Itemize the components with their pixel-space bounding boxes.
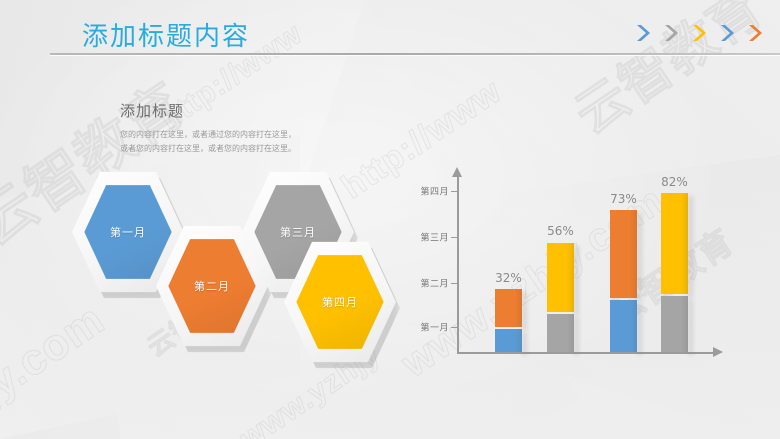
bar-segment-top bbox=[547, 243, 574, 312]
y-axis-tick bbox=[451, 327, 458, 328]
stacked-bar-chart: 第四月第三月第二月第一月 32%56%73%82% bbox=[395, 165, 735, 370]
chevron-4-icon bbox=[720, 24, 734, 42]
bar-4[interactable]: 82% bbox=[661, 193, 688, 352]
page-title: 添加标题内容 bbox=[82, 16, 250, 53]
y-axis-tick bbox=[451, 191, 458, 192]
hexagon-label: 第四月 bbox=[284, 238, 396, 366]
bar-segment-top bbox=[610, 210, 637, 298]
x-axis-line bbox=[457, 352, 715, 354]
watermark-text: 云智教育 bbox=[557, 0, 775, 148]
bar-segment-base bbox=[495, 329, 522, 352]
text-block: 添加标题 您的内容打在这里，或者通过您的内容打在这里， 或者您的内容打在这里，或… bbox=[120, 100, 340, 156]
bar-value-label: 32% bbox=[495, 271, 522, 285]
bar-3[interactable]: 73% bbox=[610, 210, 637, 352]
slide-canvas: 云智教育 http://www http://www 云智教育 jy.com w… bbox=[0, 0, 780, 439]
chevron-5-icon bbox=[748, 24, 762, 42]
bar-value-label: 56% bbox=[547, 224, 574, 238]
y-axis-label: 第一月 bbox=[420, 321, 449, 334]
bar-1[interactable]: 32% bbox=[495, 289, 522, 352]
chevron-2-icon bbox=[664, 24, 678, 42]
body-line-1: 您的内容打在这里，或者通过您的内容打在这里， bbox=[120, 128, 340, 142]
chevron-1-icon bbox=[636, 24, 650, 42]
chevron-row bbox=[636, 24, 762, 42]
y-axis-tick bbox=[451, 237, 458, 238]
section-heading: 添加标题 bbox=[120, 100, 340, 121]
bar-segment-base bbox=[661, 296, 688, 352]
bar-2[interactable]: 56% bbox=[547, 243, 574, 353]
y-axis-label: 第三月 bbox=[420, 231, 449, 244]
bar-segment-top bbox=[495, 289, 522, 327]
body-line-2: 或者您的内容打在这里，或者您的内容打在这里。 bbox=[120, 142, 340, 156]
chevron-3-icon bbox=[692, 24, 706, 42]
bar-value-label: 73% bbox=[610, 192, 637, 206]
y-axis-tick bbox=[451, 283, 458, 284]
y-axis-label: 第二月 bbox=[420, 277, 449, 290]
bar-segment-base bbox=[610, 300, 637, 352]
title-divider bbox=[50, 53, 780, 55]
y-axis-label: 第四月 bbox=[420, 185, 449, 198]
hexagon-4[interactable]: 第四月 bbox=[284, 238, 396, 366]
hexagon-cluster: 第一月第二月第三月第四月 bbox=[72, 160, 392, 370]
bar-segment-top bbox=[661, 193, 688, 295]
bar-segment-base bbox=[547, 314, 574, 352]
bar-value-label: 82% bbox=[661, 175, 688, 189]
x-axis-arrow-icon bbox=[713, 347, 723, 357]
y-axis-arrow-icon bbox=[452, 167, 462, 177]
